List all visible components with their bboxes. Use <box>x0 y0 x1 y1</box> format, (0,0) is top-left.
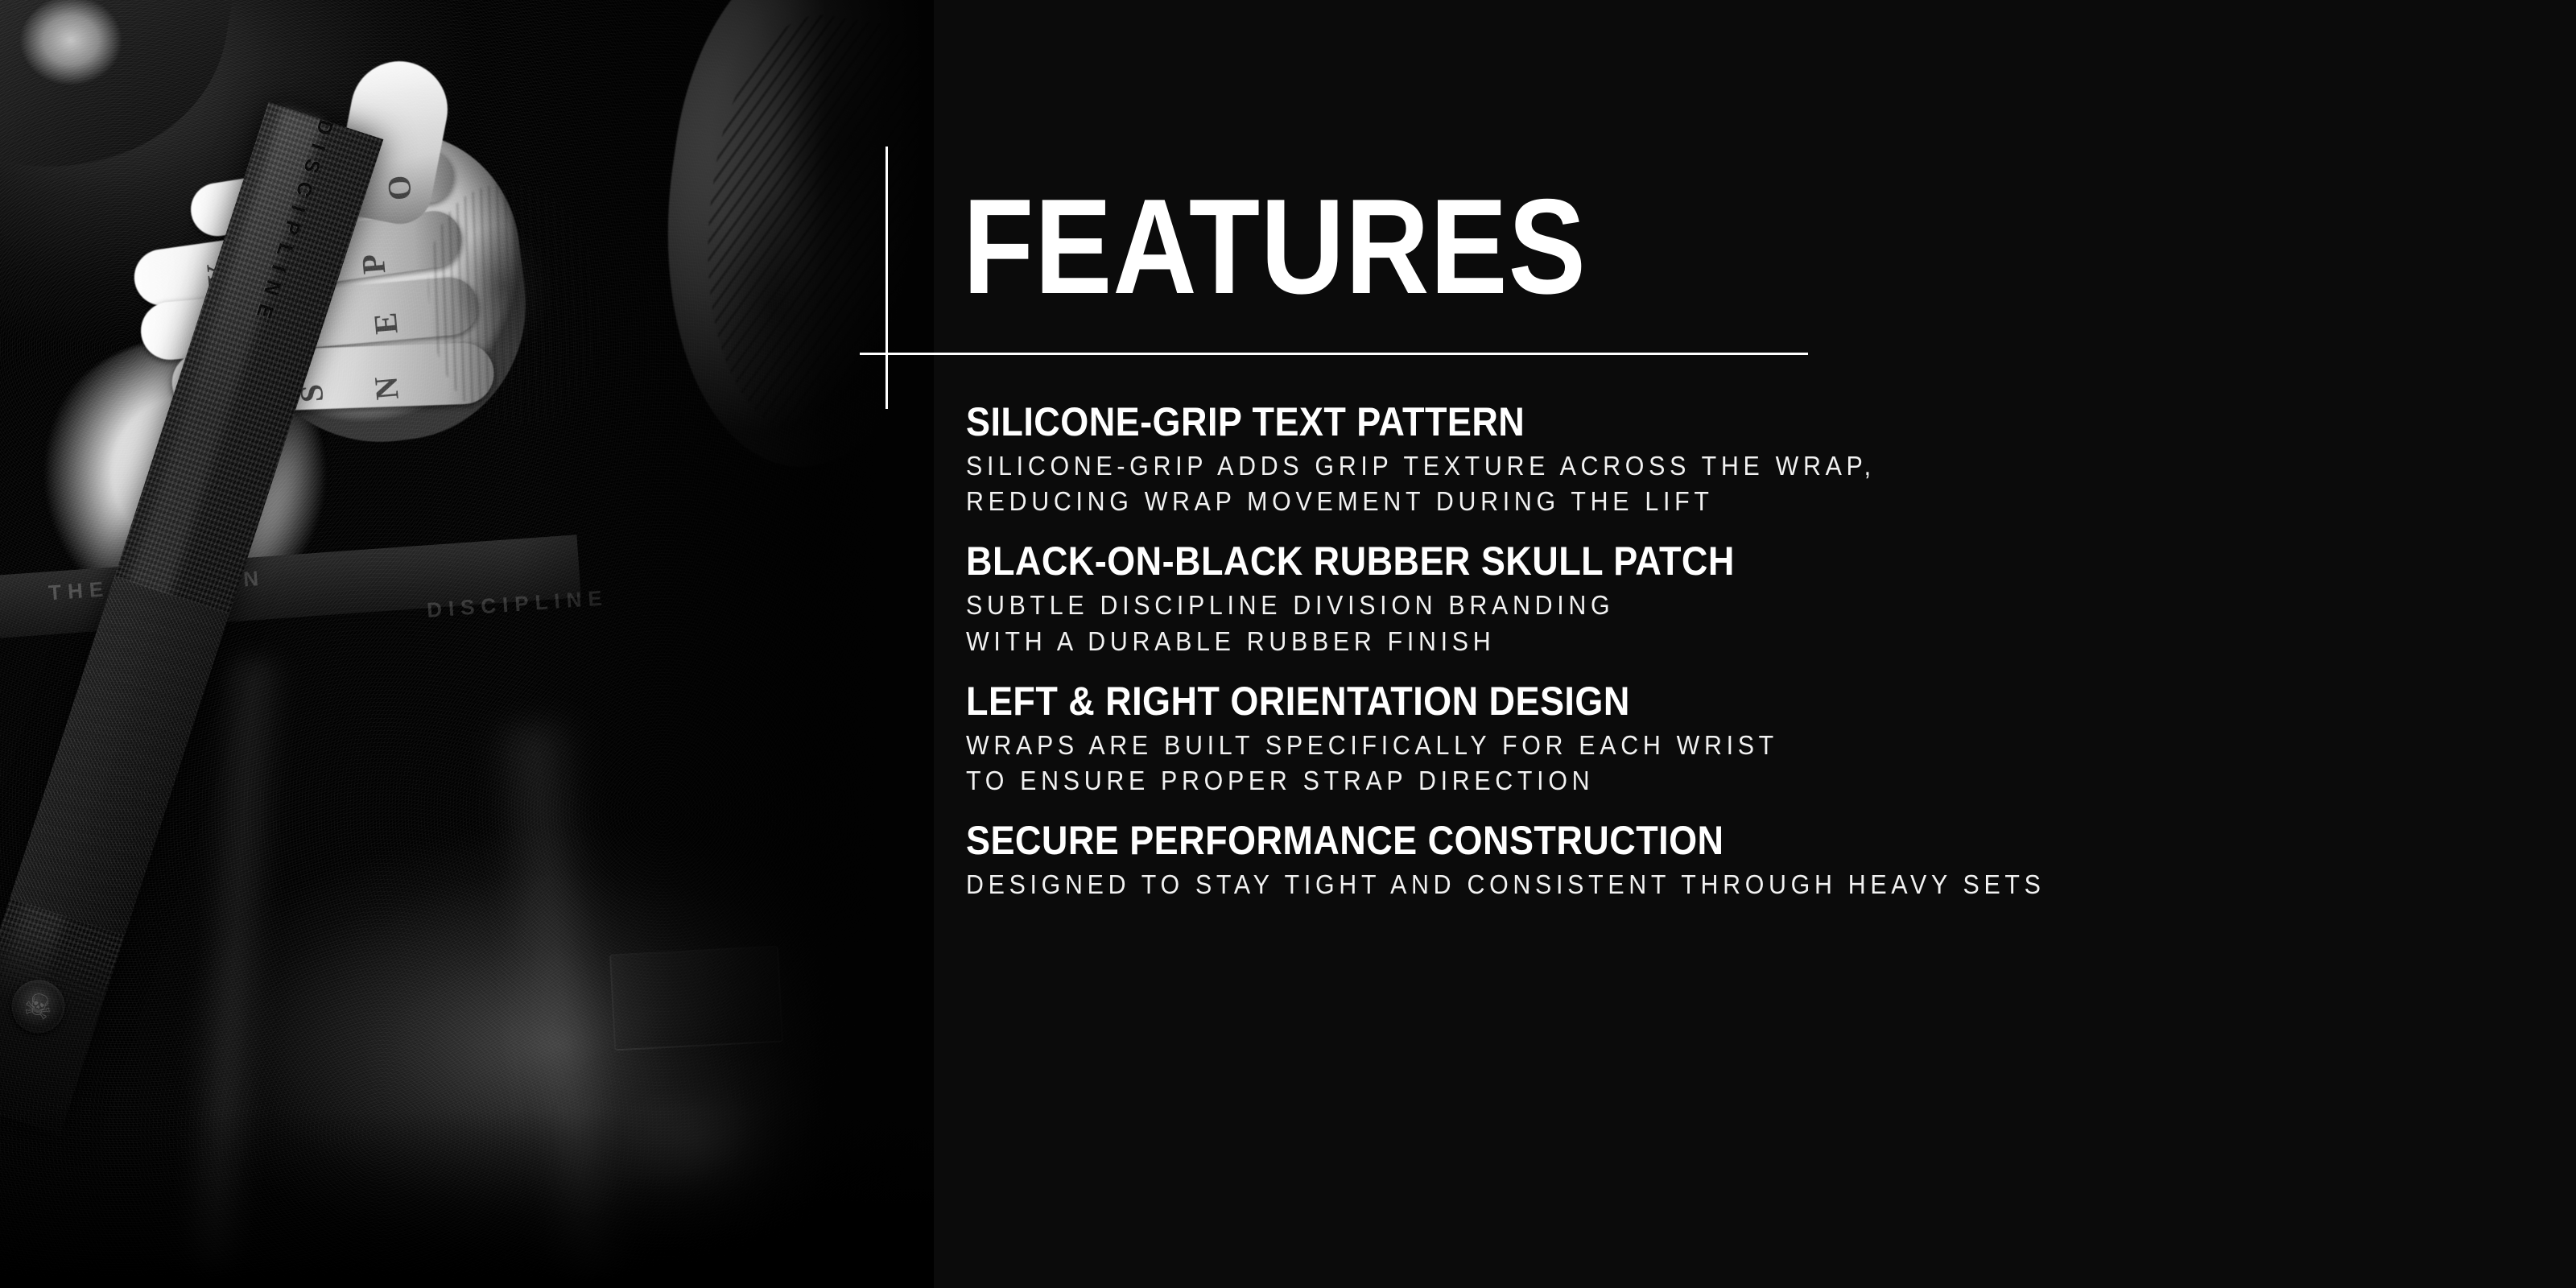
horizontal-divider <box>860 353 1808 355</box>
features-banner: E Y E S O P E N THE DIVISION DISCIPLINE … <box>0 0 2576 1288</box>
feature-description-line: WITH A DURABLE RUBBER FINISH <box>966 624 2373 659</box>
feature-heading: BLACK-ON-BLACK RUBBER SKULL PATCH <box>966 540 2343 582</box>
feature-description-line: REDUCING WRAP MOVEMENT DURING THE LIFT <box>966 484 2373 519</box>
feature-description: DESIGNED TO STAY TIGHT AND CONSISTENT TH… <box>966 867 2495 902</box>
feature-item: SECURE PERFORMANCE CONSTRUCTION DESIGNED… <box>966 819 2495 902</box>
feature-description-line: TO ENSURE PROPER STRAP DIRECTION <box>966 763 2373 799</box>
feature-heading: SILICONE-GRIP TEXT PATTERN <box>966 401 2343 443</box>
feature-list: SILICONE-GRIP TEXT PATTERN SILICONE-GRIP… <box>966 401 2495 903</box>
feature-heading: SECURE PERFORMANCE CONSTRUCTION <box>966 819 2343 861</box>
feature-item: LEFT & RIGHT ORIENTATION DESIGN WRAPS AR… <box>966 680 2495 799</box>
feature-description-line: SUBTLE DISCIPLINE DIVISION BRANDING <box>966 588 2373 623</box>
feature-heading: LEFT & RIGHT ORIENTATION DESIGN <box>966 680 2343 722</box>
feature-description: SUBTLE DISCIPLINE DIVISION BRANDING WITH… <box>966 588 2495 658</box>
feature-item: SILICONE-GRIP TEXT PATTERN SILICONE-GRIP… <box>966 401 2495 519</box>
feature-description-line: WRAPS ARE BUILT SPECIFICALLY FOR EACH WR… <box>966 728 2373 763</box>
page-title: FEATURES <box>963 179 1587 314</box>
feature-description: WRAPS ARE BUILT SPECIFICALLY FOR EACH WR… <box>966 728 2495 799</box>
features-content: FEATURES SILICONE-GRIP TEXT PATTERN SILI… <box>0 0 2576 1288</box>
feature-description-line: DESIGNED TO STAY TIGHT AND CONSISTENT TH… <box>966 867 2373 902</box>
feature-item: BLACK-ON-BLACK RUBBER SKULL PATCH SUBTLE… <box>966 540 2495 658</box>
feature-description-line: SILICONE-GRIP ADDS GRIP TEXTURE ACROSS T… <box>966 448 2373 484</box>
feature-description: SILICONE-GRIP ADDS GRIP TEXTURE ACROSS T… <box>966 448 2495 519</box>
vertical-divider <box>885 147 888 409</box>
